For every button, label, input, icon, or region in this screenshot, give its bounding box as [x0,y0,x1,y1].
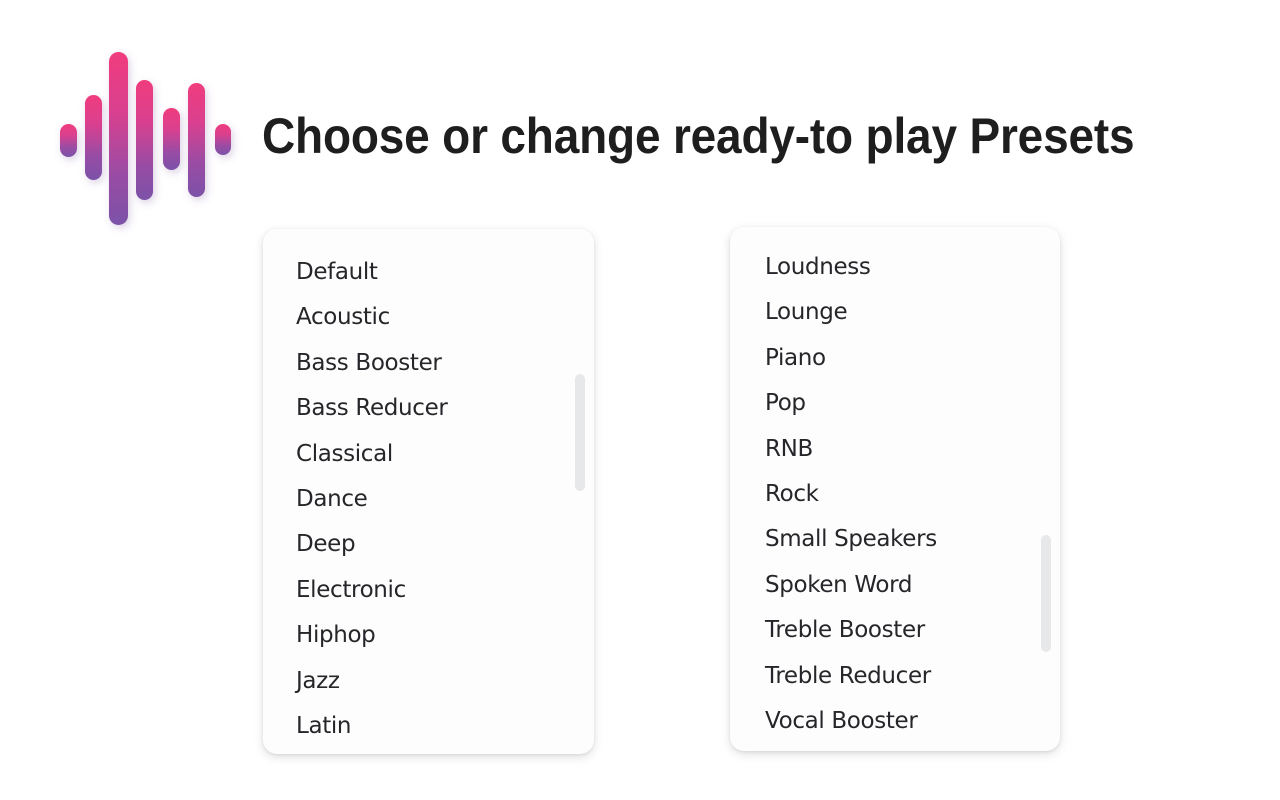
preset-list-left[interactable]: Default Acoustic Bass Booster Bass Reduc… [263,229,594,754]
scrollbar-thumb[interactable] [575,374,585,491]
logo-bar-5 [163,108,180,170]
list-item[interactable]: Hiphop [263,613,594,658]
presets-screen: Choose or change ready-to play Presets D… [0,0,1280,800]
list-item[interactable]: Default [263,250,594,295]
page-header: Choose or change ready-to play Presets [0,0,1280,240]
logo-bar-2 [85,95,102,180]
list-item[interactable]: Treble Booster [730,608,1060,653]
logo-bars [60,52,231,225]
logo-bar-1 [60,124,77,157]
preset-list-right-panel[interactable]: Loudness Lounge Piano Pop RNB Rock Small… [730,227,1060,751]
list-item[interactable]: Jazz [263,659,594,704]
preset-list-left-panel[interactable]: Default Acoustic Bass Booster Bass Reduc… [263,229,594,754]
list-item[interactable]: Pop [730,381,1060,426]
list-item[interactable]: Loudness [730,245,1060,290]
list-item[interactable]: Piano [730,336,1060,381]
page-title: Choose or change ready-to play Presets [262,100,1090,172]
list-item[interactable]: Rock [730,472,1060,517]
scrollbar-thumb[interactable] [1041,535,1051,652]
logo-bar-7 [215,124,231,155]
audio-waveform-logo [55,45,235,235]
list-item[interactable]: Vocal Booster [730,699,1060,744]
list-item[interactable]: Classical [263,432,594,477]
list-item[interactable]: Bass Reducer [263,386,594,431]
scrollbar-left[interactable] [575,259,585,724]
list-item[interactable]: Electronic [263,568,594,613]
list-item[interactable]: Lounge [730,290,1060,335]
list-item[interactable]: Dance [263,477,594,522]
list-item[interactable]: Spoken Word [730,563,1060,608]
logo-bar-6 [188,83,205,197]
logo-bar-4 [136,80,153,200]
list-item[interactable]: Bass Booster [263,341,594,386]
list-item[interactable]: Treble Reducer [730,654,1060,699]
list-item[interactable]: RNB [730,427,1060,472]
list-item[interactable]: Small Speakers [730,517,1060,562]
list-item[interactable]: Deep [263,522,594,567]
list-item[interactable]: Latin [263,704,594,749]
preset-list-right[interactable]: Loudness Lounge Piano Pop RNB Rock Small… [730,227,1060,751]
logo-bar-3 [109,52,128,225]
scrollbar-right[interactable] [1041,257,1051,721]
list-item[interactable]: Acoustic [263,295,594,340]
